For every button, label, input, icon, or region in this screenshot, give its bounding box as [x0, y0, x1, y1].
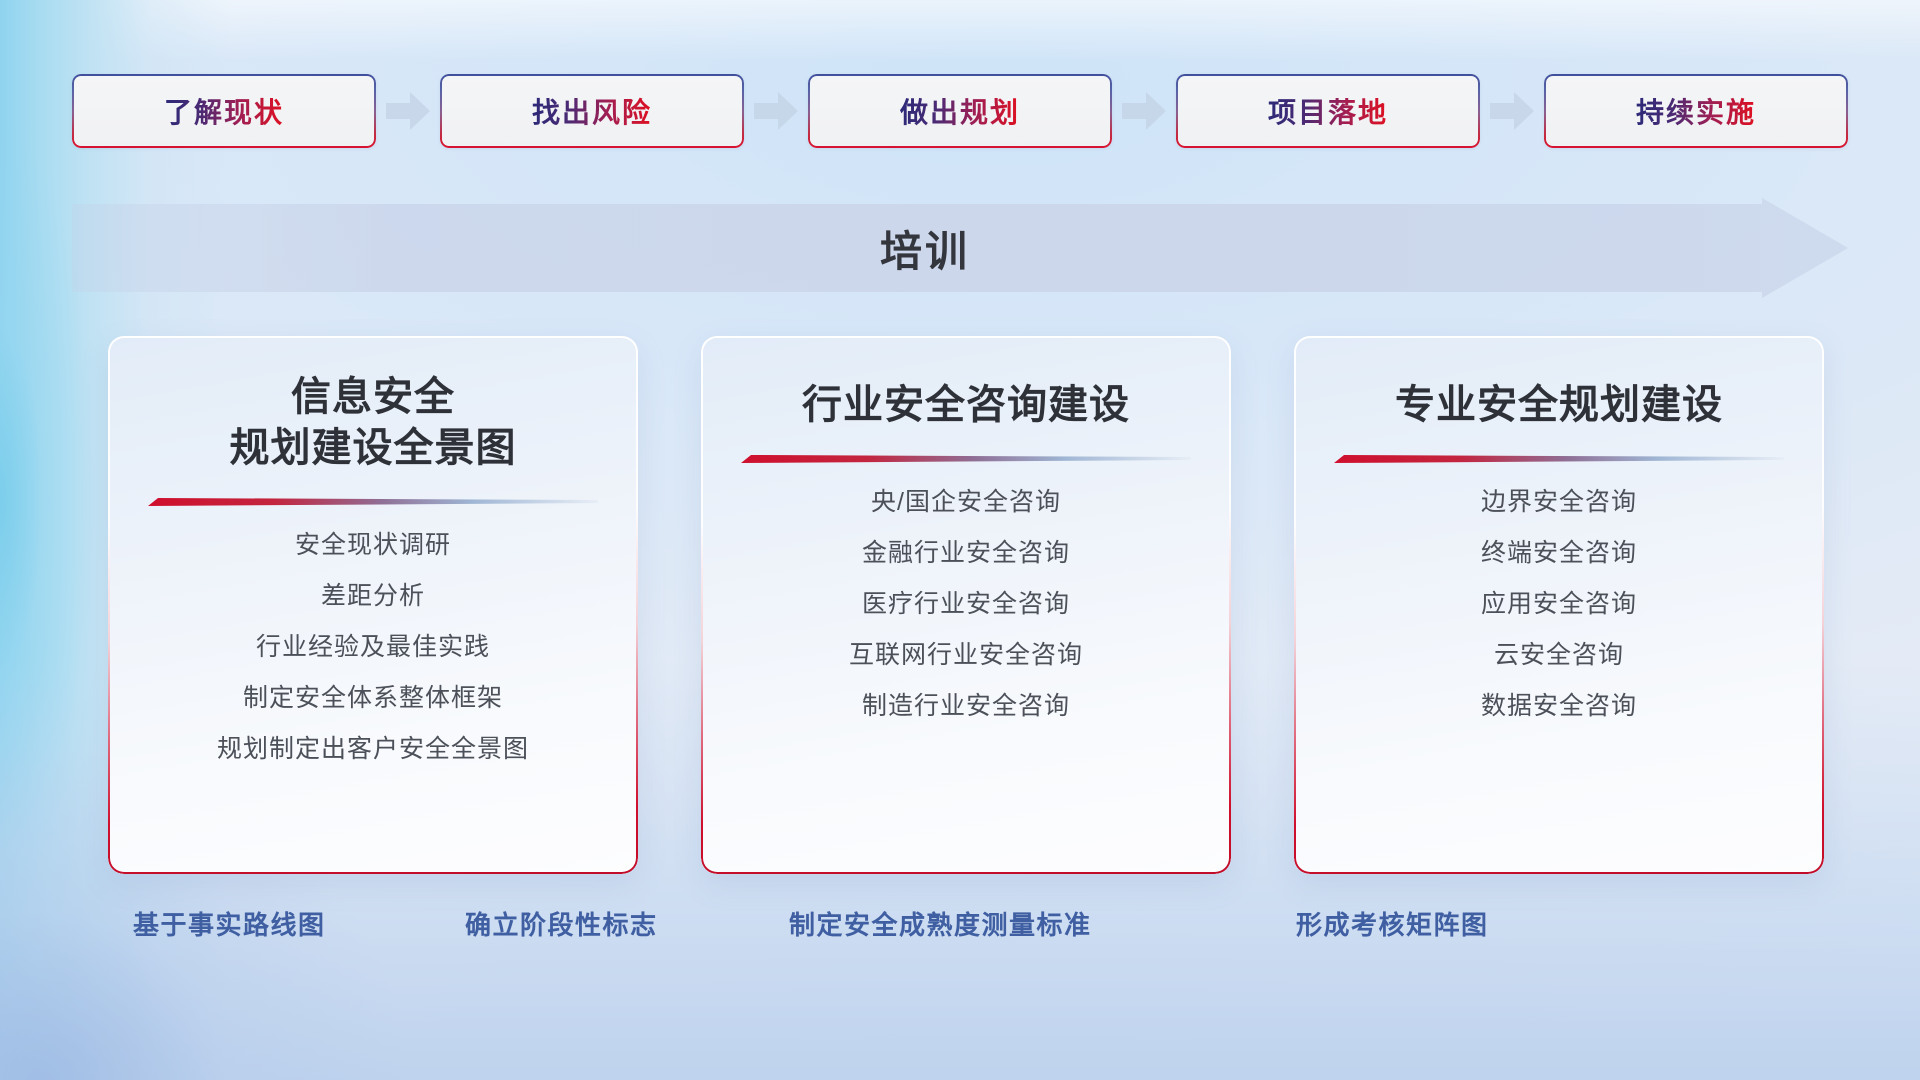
card-divider — [1334, 453, 1784, 464]
card-divider — [148, 496, 598, 507]
card-list-item: 医疗行业安全咨询 — [862, 592, 1070, 617]
service-card-row: 信息安全规划建设全景图安全现状调研差距分析行业经验及最佳实践制定安全体系整体框架… — [108, 336, 1824, 874]
card-title: 专业安全规划建设 — [1371, 380, 1747, 431]
step-box-4[interactable]: 项目落地 — [1176, 74, 1480, 148]
bottom-label-2: 确立阶段性标志 — [465, 905, 658, 942]
card-divider — [741, 453, 1191, 464]
step-arrow-1 — [376, 74, 440, 148]
step-label: 找出风险 — [532, 91, 652, 131]
step-label: 了解现状 — [164, 91, 284, 131]
card-title-line: 专业安全规划建设 — [1395, 380, 1723, 431]
card-title: 行业安全咨询建设 — [778, 380, 1154, 431]
bottom-label-4: 形成考核矩阵图 — [1296, 905, 1489, 942]
card-list-item: 制造行业安全咨询 — [862, 694, 1070, 719]
step-box-3[interactable]: 做出规划 — [808, 74, 1112, 148]
card-title-line: 行业安全咨询建设 — [802, 380, 1130, 431]
step-label: 项目落地 — [1268, 91, 1388, 131]
card-list-item: 金融行业安全咨询 — [862, 541, 1070, 566]
service-card-3[interactable]: 专业安全规划建设边界安全咨询终端安全咨询应用安全咨询云安全咨询数据安全咨询 — [1294, 336, 1824, 874]
card-item-list: 安全现状调研差距分析行业经验及最佳实践制定安全体系整体框架规划制定出客户安全全景… — [108, 533, 638, 788]
right-arrow-icon — [386, 92, 430, 130]
process-step-row: 了解现状找出风险做出规划项目落地持续实施 — [72, 74, 1848, 148]
card-item-list: 央/国企安全咨询金融行业安全咨询医疗行业安全咨询互联网行业安全咨询制造行业安全咨… — [701, 490, 1231, 745]
right-arrow-icon — [754, 92, 798, 130]
card-list-item: 边界安全咨询 — [1481, 490, 1637, 515]
step-arrow-4 — [1480, 74, 1544, 148]
training-banner: 培训 — [72, 198, 1848, 298]
banner-title: 培训 — [72, 198, 1848, 298]
card-list-item: 央/国企安全咨询 — [871, 490, 1061, 515]
step-box-2[interactable]: 找出风险 — [440, 74, 744, 148]
step-arrow-3 — [1112, 74, 1176, 148]
right-arrow-icon — [1122, 92, 1166, 130]
card-item-list: 边界安全咨询终端安全咨询应用安全咨询云安全咨询数据安全咨询 — [1294, 490, 1824, 745]
bottom-label-3: 制定安全成熟度测量标准 — [789, 905, 1092, 942]
card-list-item: 行业经验及最佳实践 — [256, 635, 490, 660]
card-list-item: 规划制定出客户安全全景图 — [217, 737, 529, 762]
card-list-item: 安全现状调研 — [295, 533, 451, 558]
service-card-2[interactable]: 行业安全咨询建设央/国企安全咨询金融行业安全咨询医疗行业安全咨询互联网行业安全咨… — [701, 336, 1231, 874]
bottom-label-1: 基于事实路线图 — [133, 905, 326, 942]
card-list-item: 应用安全咨询 — [1481, 592, 1637, 617]
step-arrow-2 — [744, 74, 808, 148]
step-label: 持续实施 — [1636, 91, 1756, 131]
card-title-line: 信息安全 — [230, 372, 517, 423]
card-list-item: 差距分析 — [321, 584, 425, 609]
background-top-highlight — [0, 0, 1920, 60]
card-title-line: 规划建设全景图 — [230, 423, 517, 474]
card-title: 信息安全规划建设全景图 — [206, 372, 541, 474]
bottom-label-row: 基于事实路线图确立阶段性标志制定安全成熟度测量标准形成考核矩阵图 — [0, 905, 1920, 965]
right-arrow-icon — [1490, 92, 1534, 130]
card-list-item: 终端安全咨询 — [1481, 541, 1637, 566]
step-label: 做出规划 — [900, 91, 1020, 131]
step-box-1[interactable]: 了解现状 — [72, 74, 376, 148]
card-list-item: 云安全咨询 — [1494, 643, 1624, 668]
card-list-item: 制定安全体系整体框架 — [243, 686, 503, 711]
step-box-5[interactable]: 持续实施 — [1544, 74, 1848, 148]
service-card-1[interactable]: 信息安全规划建设全景图安全现状调研差距分析行业经验及最佳实践制定安全体系整体框架… — [108, 336, 638, 874]
card-list-item: 数据安全咨询 — [1481, 694, 1637, 719]
card-list-item: 互联网行业安全咨询 — [849, 643, 1083, 668]
